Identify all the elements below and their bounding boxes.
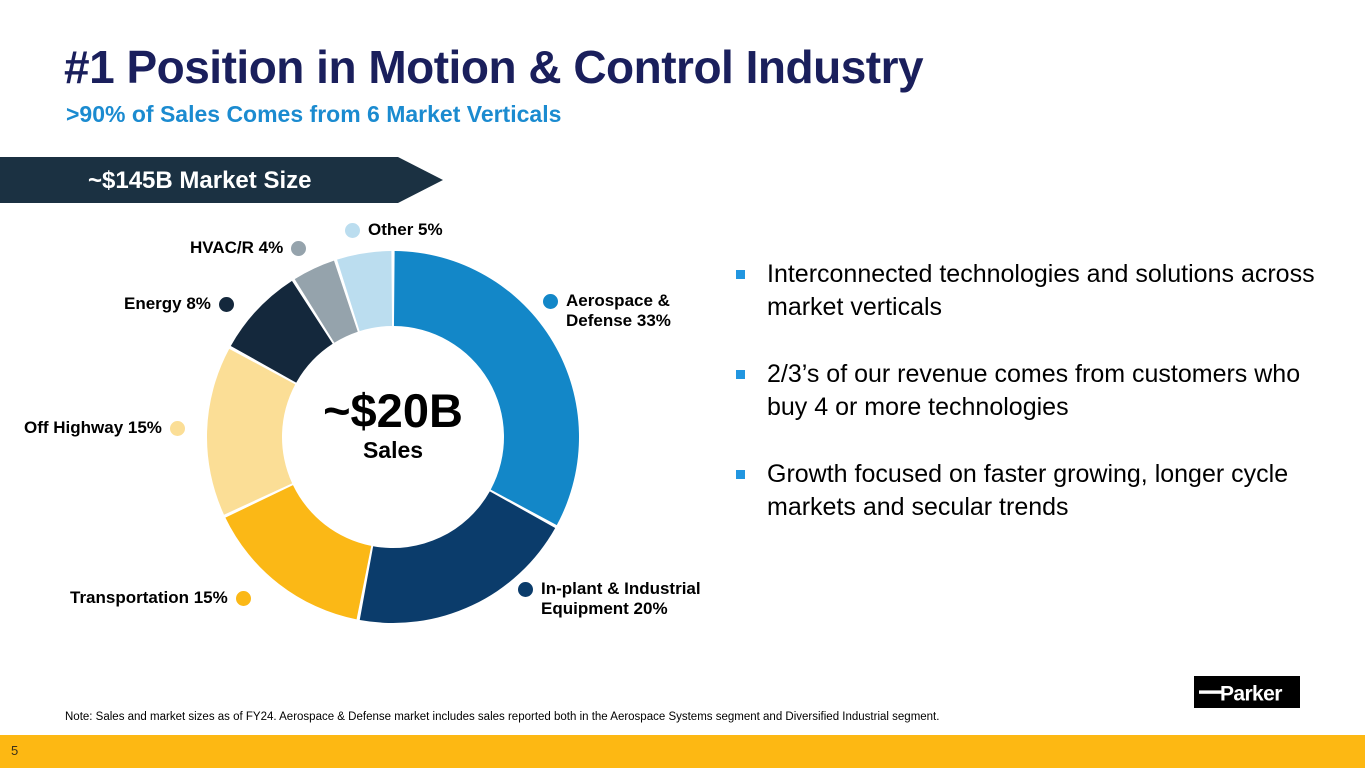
chart-label-hvac-text: HVAC/R 4%: [190, 238, 283, 258]
chart-label-other: Other 5%: [345, 220, 443, 240]
legend-dot-energy: [219, 297, 234, 312]
chart-label-transportation-text: Transportation 15%: [70, 588, 228, 608]
chart-label-energy: Energy 8%: [124, 294, 234, 314]
svg-text:Parker: Parker: [1220, 683, 1282, 706]
parker-wordmark-icon: Parker: [1194, 676, 1300, 708]
legend-dot-off-highway: [170, 421, 185, 436]
page-subtitle: >90% of Sales Comes from 6 Market Vertic…: [66, 101, 561, 128]
square-bullet-icon: [736, 270, 745, 279]
parker-logo: Parker: [1194, 676, 1300, 708]
chart-label-energy-text: Energy 8%: [124, 294, 211, 314]
donut-center-value: ~$20B: [205, 387, 581, 434]
legend-dot-hvac: [291, 241, 306, 256]
page-number: 5: [11, 743, 18, 758]
donut-center-subtitle: Sales: [205, 439, 581, 462]
chart-label-hvac: HVAC/R 4%: [190, 238, 306, 258]
chart-label-off-highway-text: Off Highway 15%: [24, 418, 162, 438]
chart-label-aerospace-defense-text: Aerospace & Defense 33%: [566, 291, 671, 331]
chart-label-off-highway: Off Highway 15%: [24, 418, 185, 438]
footnote: Note: Sales and market sizes as of FY24.…: [65, 711, 939, 723]
chart-label-aerospace-line1: Aerospace &: [566, 291, 670, 310]
footer-bar: [0, 735, 1365, 768]
chart-label-other-text: Other 5%: [368, 220, 443, 240]
legend-dot-transportation: [236, 591, 251, 606]
list-item: 2/3’s of our revenue comes from customer…: [736, 358, 1336, 424]
market-vertical-donut-chart: ~$20B Sales: [205, 249, 581, 625]
legend-dot-inplant-industrial: [518, 582, 533, 597]
chart-label-inplant-line1: In-plant & Industrial: [541, 579, 701, 598]
list-item-text: Interconnected technologies and solution…: [767, 258, 1336, 324]
slide-root: #1 Position in Motion & Control Industry…: [0, 0, 1365, 768]
square-bullet-icon: [736, 370, 745, 379]
list-item: Growth focused on faster growing, longer…: [736, 458, 1336, 524]
list-item-text: Growth focused on faster growing, longer…: [767, 458, 1336, 524]
chart-label-aerospace-line2: Defense 33%: [566, 311, 671, 330]
chart-label-inplant-industrial: In-plant & Industrial Equipment 20%: [518, 579, 701, 619]
chart-label-aerospace-defense: Aerospace & Defense 33%: [543, 291, 671, 331]
key-points-list: Interconnected technologies and solution…: [736, 258, 1336, 558]
legend-dot-other: [345, 223, 360, 238]
list-item: Interconnected technologies and solution…: [736, 258, 1336, 324]
chart-label-transportation: Transportation 15%: [70, 588, 251, 608]
page-title: #1 Position in Motion & Control Industry: [64, 40, 923, 94]
chart-label-inplant-text: In-plant & Industrial Equipment 20%: [541, 579, 701, 619]
list-item-text: 2/3’s of our revenue comes from customer…: [767, 358, 1336, 424]
chart-label-inplant-line2: Equipment 20%: [541, 599, 668, 618]
market-size-banner-label: ~$145B Market Size: [88, 167, 311, 195]
square-bullet-icon: [736, 470, 745, 479]
legend-dot-aerospace-defense: [543, 294, 558, 309]
